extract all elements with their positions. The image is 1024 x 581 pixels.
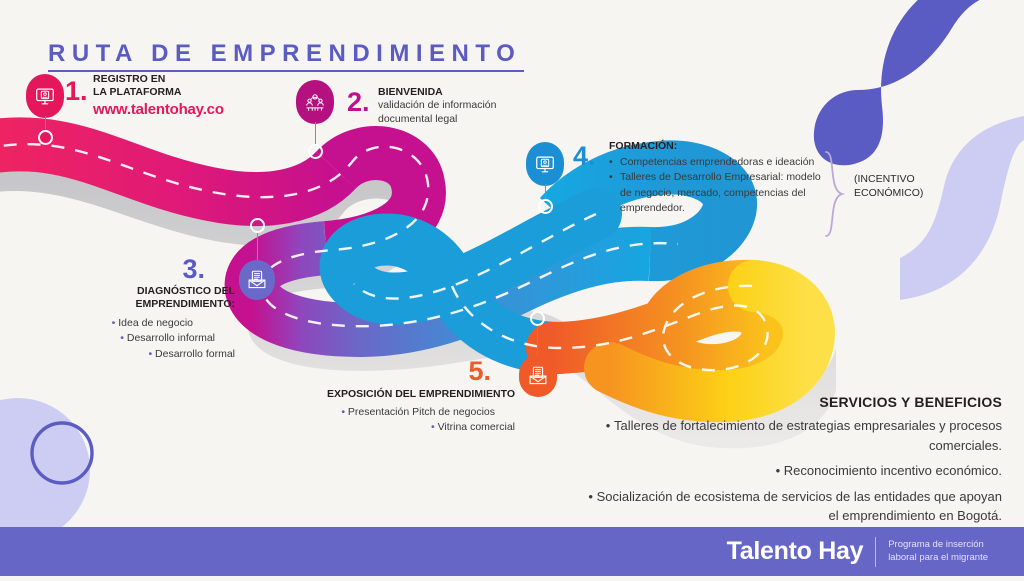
services-heading: SERVICIOS Y BENEFICIOS (582, 394, 1002, 410)
list-item: • Idea de negocio (60, 316, 235, 331)
step-2-road-dot (308, 144, 323, 159)
brand-tagline: Programa de inserción laboral para el mi… (888, 539, 988, 565)
step-2-number: 2. (347, 87, 370, 117)
list-item: • Reconocimiento incentivo económico. (582, 461, 1002, 481)
document-envelope-icon (246, 268, 268, 291)
step-2-stem (315, 122, 316, 146)
step-4-number: 4. (573, 141, 596, 171)
step-5-road-dot (530, 311, 545, 326)
incentivo-line2: ECONÓMICO) (854, 186, 923, 200)
services-section: SERVICIOS Y BENEFICIOS • Talleres de for… (582, 394, 1002, 526)
step-3: 3. DIAGNÓSTICO DEL EMPRENDIMIENTO: • Ide… (60, 256, 235, 362)
brand-name: Talento Hay (727, 537, 864, 566)
step-4-heading: FORMACIÓN: (609, 140, 829, 153)
step-3-bullets: • Idea de negocio • Desarrollo informal … (60, 316, 235, 362)
incentivo-brace-icon (822, 150, 848, 238)
list-item: • Presentación Pitch de negocios (300, 405, 515, 420)
step-4-road-dot (538, 199, 553, 214)
welcome-people-icon (304, 90, 326, 114)
step-3-heading-line2: EMPRENDIMIENTO: (60, 298, 235, 311)
incentivo-note: (INCENTIVO ECONÓMICO) (854, 172, 923, 200)
step-1-heading-line1: REGISTRO EN (93, 73, 224, 86)
services-list: • Talleres de fortalecimiento de estrate… (582, 416, 1002, 526)
step-2-pin[interactable] (296, 80, 334, 124)
step-2: 2. BIENVENIDA validación de información … (378, 86, 496, 126)
step-3-bullet-0: Idea de negocio (118, 317, 193, 329)
footer-bar: Talento Hay Programa de inserción labora… (0, 527, 1024, 576)
infographic-canvas: RUTA DE EMPRENDIMIENTO 1. REGISTRO EN LA… (0, 0, 1024, 576)
step-3-pin[interactable] (239, 260, 275, 300)
step-3-stem (257, 232, 258, 260)
step-5-number: 5. (300, 358, 491, 385)
step-2-heading: BIENVENIDA (378, 86, 496, 99)
step-5-pin[interactable] (519, 355, 557, 397)
brand-lockup: Talento Hay Programa de inserción labora… (727, 537, 1024, 567)
road-lower-orange (552, 286, 809, 396)
step-3-road-dot (250, 218, 265, 233)
monitor-document-icon (534, 152, 556, 176)
step-4: 4. FORMACIÓN: •Competencias emprendedora… (610, 140, 840, 216)
step-5-heading: EXPOSICIÓN DEL EMPRENDIMIENTO (300, 388, 515, 401)
step-4-bullets: •Competencias emprendedoras e ideación •… (609, 155, 829, 216)
list-item: •Competencias emprendedoras e ideación (609, 155, 829, 170)
step-1: 1. REGISTRO EN LA PLATAFORMA www.talento… (92, 73, 224, 118)
list-item: • Talleres de fortalecimiento de estrate… (582, 416, 1002, 455)
bullet-icon: • (588, 489, 596, 504)
step-1-number: 1. (65, 76, 88, 106)
list-item: • Socialización de ecosistema de servici… (582, 487, 1002, 526)
step-1-road-dot (38, 130, 53, 145)
step-5: 5. EXPOSICIÓN DEL EMPRENDIMIENTO • Prese… (300, 358, 515, 436)
title-underline (48, 70, 524, 72)
step-4-stem (545, 184, 546, 200)
bullet-icon: • (606, 418, 614, 433)
step-4-pin[interactable] (526, 142, 564, 186)
list-item: • Vitrina comercial (300, 420, 515, 435)
page-title: RUTA DE EMPRENDIMIENTO (48, 40, 521, 72)
list-item: •Talleres de Desarrollo Empresarial: mod… (609, 170, 829, 216)
step-5-stem (537, 325, 538, 355)
step-5-bullet-0: Presentación Pitch de negocios (348, 406, 495, 418)
step-2-sub-line1: validación de información (378, 99, 496, 113)
brand-divider (875, 537, 876, 567)
document-envelope-icon (527, 364, 549, 387)
services-item-2: Socialización de ecosistema de servicios… (597, 489, 1002, 524)
list-item: • Desarrollo informal (60, 331, 235, 346)
services-item-1: Reconocimiento incentivo económico. (784, 463, 1002, 478)
step-5-bullets: • Presentación Pitch de negocios • Vitri… (300, 405, 515, 435)
incentivo-line1: (INCENTIVO (854, 172, 923, 186)
monitor-document-icon (34, 84, 56, 108)
brand-tagline-line1: Programa de inserción (888, 539, 988, 552)
step-2-sub-line2: documental legal (378, 113, 496, 127)
step-4-bullet-1: Talleres de Desarrollo Empresarial: mode… (620, 171, 821, 213)
brand-tagline-line2: laboral para el migrante (888, 552, 988, 565)
step-4-bullet-0: Competencias emprendedoras e ideación (620, 156, 814, 168)
step-3-bullet-1: Desarrollo informal (127, 332, 215, 344)
step-1-pin[interactable] (26, 74, 64, 118)
bullet-icon: • (776, 463, 784, 478)
step-1-url[interactable]: www.talentohay.co (93, 101, 224, 118)
step-3-bullet-2: Desarrollo formal (155, 348, 235, 360)
step-5-bullet-1: Vitrina comercial (438, 421, 515, 433)
step-1-heading-line2: LA PLATAFORMA (93, 86, 224, 99)
step-3-heading-line1: DIAGNÓSTICO DEL (60, 285, 235, 298)
list-item: • Desarrollo formal (60, 347, 235, 362)
step-3-number: 3. (60, 256, 205, 283)
services-item-0: Talleres de fortalecimiento de estrategi… (614, 418, 1002, 453)
